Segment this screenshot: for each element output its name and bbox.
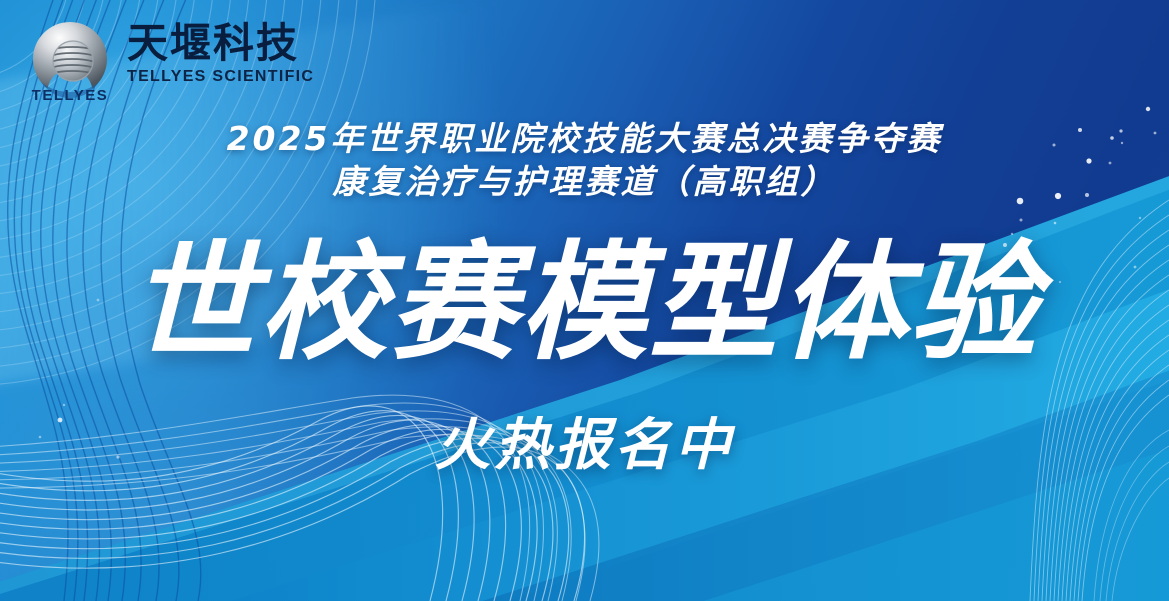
logo-wordmark: TELLYES: [27, 87, 113, 104]
page-title: 世校赛模型体验: [0, 240, 1169, 368]
company-name-cn: 天堰科技: [127, 22, 314, 65]
tellyes-sphere-logo: TELLYES: [27, 16, 113, 102]
headline-line-2: 康复治疗与护理赛道（高职组）: [0, 161, 1169, 204]
headline-line-1: 2025年世界职业院校技能大赛总决赛争夺赛: [0, 118, 1169, 161]
call-to-action-text: 火热报名中: [0, 418, 1169, 474]
promo-banner: TELLYES 天堰科技 TELLYES SCIENTIFIC 2025年世界职…: [0, 0, 1169, 601]
company-name-en: TELLYES SCIENTIFIC: [127, 68, 314, 86]
headline-block: 2025年世界职业院校技能大赛总决赛争夺赛 康复治疗与护理赛道（高职组）: [0, 118, 1169, 204]
brand-logo: TELLYES 天堰科技 TELLYES SCIENTIFIC: [27, 16, 314, 102]
